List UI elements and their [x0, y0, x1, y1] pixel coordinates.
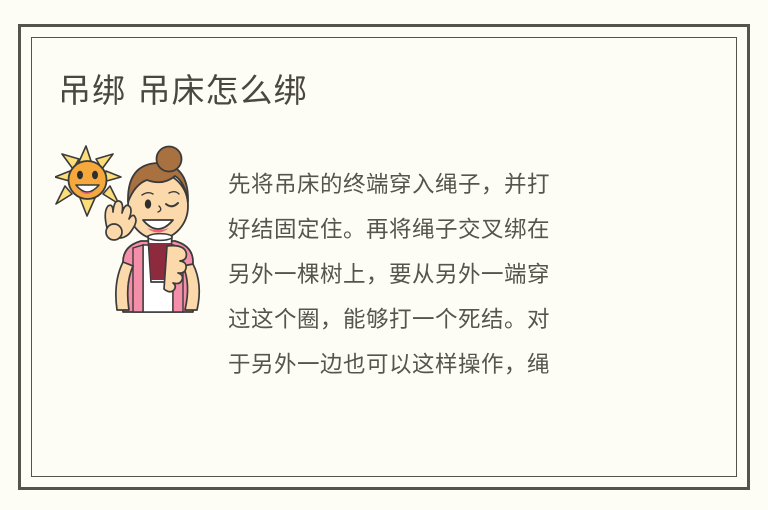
body-line: 先将吊床的终端穿入绳子，并打 [228, 163, 648, 208]
illustration [55, 142, 220, 314]
body-line: 于另外一边也可以这样操作，绳 [228, 343, 648, 388]
body-line: 好结固定住。再将绳子交叉绑在 [228, 208, 648, 253]
article-body: 先将吊床的终端穿入绳子，并打 好结固定住。再将绳子交叉绑在 另外一棵树上，要从另… [228, 163, 648, 388]
body-line: 另外一棵树上，要从另外一端穿 [228, 253, 648, 298]
page-title: 吊绑 吊床怎么绑 [58, 64, 308, 112]
article-card: 吊绑 吊床怎么绑 [0, 0, 768, 510]
card-content: 吊绑 吊床怎么绑 [0, 0, 768, 510]
body-line: 过这个圈，能够打一个死结。对 [228, 298, 648, 343]
woman-figure [105, 147, 199, 313]
woman-with-juice-and-sun-icon [55, 142, 220, 314]
